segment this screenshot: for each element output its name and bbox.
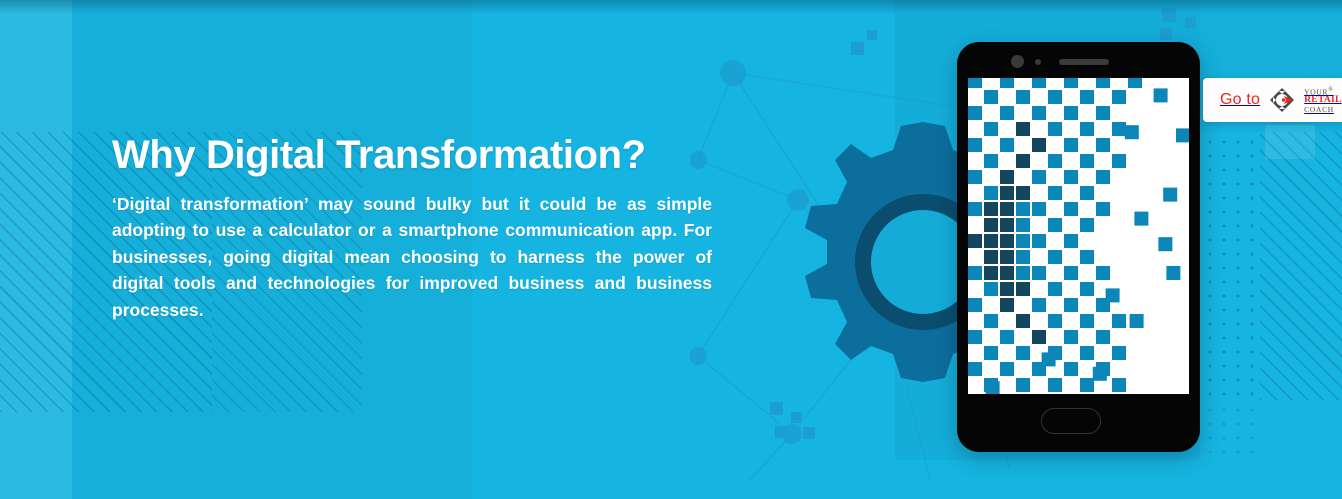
- dot-grid-pattern-right: [1200, 132, 1260, 400]
- decor-square: [851, 42, 864, 55]
- hero-banner: Why Digital Transformation? ‘Digital tra…: [0, 0, 1342, 499]
- hero-text-block: Why Digital Transformation? ‘Digital tra…: [112, 132, 712, 323]
- brand-registered-mark: ®: [1328, 87, 1333, 93]
- sensor-dot-icon: [1035, 59, 1041, 65]
- diamond-arrow-logo-icon: [1269, 87, 1295, 113]
- decor-square: [1185, 17, 1196, 28]
- decor-square: [791, 412, 802, 423]
- diagonal-stripes-pattern-right: [1260, 132, 1342, 400]
- left-light-band: [0, 0, 72, 499]
- phone-screen: [968, 78, 1189, 394]
- dot-grid-pattern-right-lower: [1200, 400, 1260, 460]
- decor-square: [1160, 28, 1172, 40]
- decor-square: [803, 427, 815, 439]
- speaker-grille-icon: [1059, 59, 1109, 65]
- pixel-mosaic-icon: [968, 78, 1189, 394]
- decor-square: [770, 402, 783, 415]
- top-right-light-wash: [1265, 125, 1315, 159]
- brand-line-3: COACH: [1304, 106, 1342, 114]
- decor-square: [775, 426, 787, 438]
- badge-brand-text: YOUR® RETAIL COACH: [1304, 87, 1342, 113]
- hero-paragraph: ‘Digital transformation’ may sound bulky…: [112, 191, 712, 323]
- smartphone-mockup: [957, 42, 1200, 452]
- top-edge-shade: [0, 0, 1342, 14]
- page-title: Why Digital Transformation?: [112, 132, 712, 178]
- brand-line-1: YOUR: [1304, 87, 1328, 96]
- go-to-your-retail-coach-button[interactable]: Go to YOUR® RETAIL COACH: [1203, 78, 1342, 122]
- camera-dot-icon: [1011, 55, 1024, 68]
- decor-square: [867, 30, 877, 40]
- badge-label: Go to: [1220, 91, 1260, 109]
- home-button-icon[interactable]: [1041, 408, 1101, 434]
- decor-square: [1162, 8, 1176, 22]
